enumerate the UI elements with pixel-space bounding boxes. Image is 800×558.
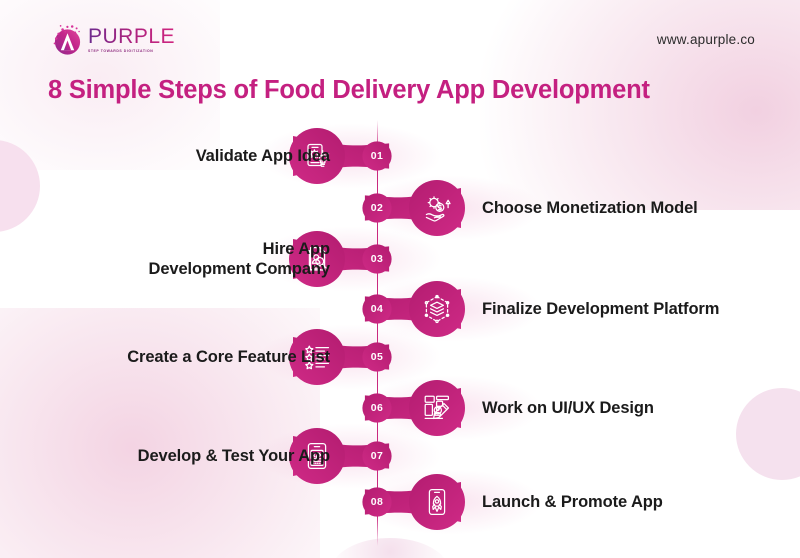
- step-node-shape: [0, 474, 800, 530]
- step-label: Validate App Idea: [196, 128, 330, 184]
- step-node-shape: [0, 231, 800, 287]
- timeline-step-05[interactable]: 05Create a Core Feature List: [0, 329, 800, 385]
- site-url[interactable]: www.apurple.co: [657, 32, 755, 47]
- timeline-step-02[interactable]: 02Choose Monetization Model: [0, 180, 800, 236]
- step-node-shape: [0, 329, 800, 385]
- logo-wordmark: PURPLE: [88, 26, 175, 47]
- step-label: Choose Monetization Model: [482, 180, 698, 236]
- decorative-circle-bottom: [330, 538, 450, 558]
- step-node-shape: [0, 128, 800, 184]
- page-title: 8 Simple Steps of Food Delivery App Deve…: [48, 76, 650, 105]
- step-label: Create a Core Feature List: [127, 329, 330, 385]
- logo-tagline: STEP TOWARDS DIGITIZATION: [88, 49, 177, 53]
- brand-logo[interactable]: PURPLE STEP TOWARDS DIGITIZATION: [48, 20, 175, 58]
- step-number: 05: [362, 329, 392, 385]
- step-label: Hire App Development Company: [149, 231, 330, 287]
- step-label: Launch & Promote App: [482, 474, 663, 530]
- step-number: 01: [362, 128, 392, 184]
- timeline-step-01[interactable]: 01Validate App Idea: [0, 128, 800, 184]
- timeline-step-03[interactable]: 03Hire App Development Company: [0, 231, 800, 287]
- step-number: 08: [362, 474, 392, 530]
- hand-money-gear-icon: [409, 180, 465, 236]
- mobile-rocket-icon: [409, 474, 465, 530]
- infographic-canvas: PURPLE STEP TOWARDS DIGITIZATION www.apu…: [0, 0, 800, 558]
- step-number: 02: [362, 180, 392, 236]
- timeline-step-08[interactable]: 08Launch & Promote App: [0, 474, 800, 530]
- apurple-a-logo-icon: [48, 20, 86, 58]
- step-number: 03: [362, 231, 392, 287]
- header: PURPLE STEP TOWARDS DIGITIZATION www.apu…: [0, 0, 800, 70]
